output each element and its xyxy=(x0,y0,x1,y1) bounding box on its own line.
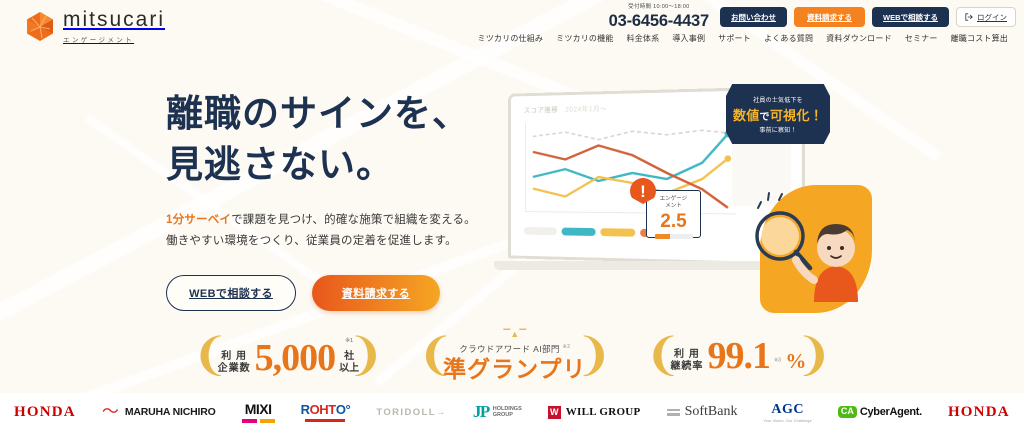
client-logo-softbank-text: SoftBank xyxy=(685,404,738,420)
mixi-underline-icon xyxy=(242,419,275,423)
stat-retention-note: ※3 xyxy=(774,357,781,363)
stat-award-note: ※2 xyxy=(563,344,571,350)
nav-item-kinou[interactable]: ミツカリの機能 xyxy=(556,33,613,44)
telephone-block: 受付時間 10:00〜18:00 03-6456-4437 xyxy=(609,5,709,30)
laurel-wreath-icon: ❨ xyxy=(575,332,613,377)
client-logo-will-group-text: WILL GROUP xyxy=(566,406,641,418)
stat-award-content: ▔▲▔ クラウドアワード AI部門 ※2 準グランプリ xyxy=(443,330,586,383)
nav-item-faq[interactable]: よくある質問 xyxy=(764,33,813,44)
hexagon-cube-icon xyxy=(26,11,54,42)
badge-main-end: 可視化！ xyxy=(770,108,823,123)
business-hours: 受付時間 10:00〜18:00 xyxy=(609,5,709,11)
client-logo-toridoll: TORIDOLL→ xyxy=(376,407,446,418)
person-illustration-icon xyxy=(744,184,864,307)
engagement-score-bar xyxy=(655,234,693,239)
badge-main-mid: で xyxy=(760,112,770,123)
landing-page: mitsucari エンゲージメント 受付時間 10:00〜18:00 03-6… xyxy=(0,0,1024,431)
main-navigation: ミツカリの仕組み ミツカリの機能 料金体系 導入事例 サポート よくある質問 資… xyxy=(478,33,1008,44)
stat-companies-content: 利 用 企業数 5,000 ※1 社 以上 xyxy=(218,338,360,376)
header-contact-area: 受付時間 10:00〜18:00 03-6456-4437 お問い合わせ 資料請… xyxy=(609,5,1016,30)
stat-retention-content: 利 用 継続率 99.1 ※3 % xyxy=(670,340,806,373)
stat-retention-value: 99.1 xyxy=(707,340,770,373)
phone-number: 03-6456-4437 xyxy=(609,13,709,30)
stat-award: ❨ ❨ ▔▲▔ クラウドアワード AI部門 ※2 準グランプリ xyxy=(417,328,612,386)
client-logo-jp-holdings: JP HOLDINGS GROUP xyxy=(473,402,522,422)
nav-item-seminar[interactable]: セミナー xyxy=(905,33,938,44)
client-logo-jp-sub2: GROUP xyxy=(493,412,513,418)
client-logo-will-group: W WILL GROUP xyxy=(548,406,641,419)
laurel-wreath-icon: ❨ xyxy=(347,332,385,377)
client-logo-honda: HONDA xyxy=(14,404,76,421)
logo-tagline: エンゲージメント xyxy=(63,34,165,44)
legend-pill-retention xyxy=(600,228,635,237)
stat-companies-value: 5,000 xyxy=(255,342,336,375)
hero-lead-line1: 1分サーベイで課題を見つけ、的確な施策で組織を変える。 xyxy=(166,210,476,231)
client-logo-cyberagent: CA CyberAgent. xyxy=(838,406,922,418)
hero-copy: 離職のサインを、 見逃さない。 1分サーベイで課題を見つけ、的確な施策で組織を変… xyxy=(166,88,476,311)
hero-web-consult-button[interactable]: WEBで相談する xyxy=(166,275,296,311)
client-logo-maruha-nichiro: 〜 MARUHA NICHIRO xyxy=(102,406,216,418)
dashboard-title: スコア推移 2024年1月〜 xyxy=(524,104,608,115)
badge-bottom-text: 事前に察知！ xyxy=(759,125,796,134)
hero-lead-line2: 働きやすい環境をつくり、従業員の定着を促進します。 xyxy=(166,231,476,252)
nav-item-cost-calc[interactable]: 離職コスト算出 xyxy=(951,33,1008,44)
hero-request-document-button[interactable]: 資料請求する xyxy=(312,275,440,311)
client-logo-jp-text: JP xyxy=(473,402,489,422)
laurel-wreath-icon: ❨ xyxy=(192,332,230,377)
contact-button[interactable]: お問い合わせ xyxy=(720,7,787,27)
nav-item-cases[interactable]: 導入事例 xyxy=(672,33,705,44)
crown-icon: ▔▲▔ xyxy=(443,330,586,339)
engagement-score-value: 2.5 xyxy=(647,212,700,231)
nav-item-download[interactable]: 資料ダウンロード xyxy=(826,33,892,44)
stats-row: ❨ ❨ 利 用 企業数 5,000 ※1 社 以上 ❨ ❨ ▔▲▔ xyxy=(0,326,1024,388)
client-logo-jp-sub1: HOLDINGS xyxy=(493,406,522,412)
login-arrow-icon xyxy=(965,13,973,21)
hero-lead-highlight: 1分サーベイ xyxy=(166,214,231,226)
client-logo-honda: HONDA xyxy=(948,404,1010,421)
hero-lead-rest: で課題を見つけ、的確な施策で組織を変える。 xyxy=(231,214,476,226)
dashboard-title-text: スコア推移 xyxy=(524,107,559,114)
login-label: ログイン xyxy=(977,12,1007,23)
line-chart xyxy=(524,117,739,216)
client-logo-agc: AGC Your Vision, Our Challenge xyxy=(763,402,811,423)
hero-headline-line1: 離職のサインを、 xyxy=(166,88,476,139)
cyberagent-mark-icon: CA xyxy=(838,406,857,418)
stat-retention: ❨ ❨ 利 用 継続率 99.1 ※3 % xyxy=(644,328,832,386)
engagement-label-line2: メント xyxy=(647,203,700,210)
client-logo-strip: HONDA 〜 MARUHA NICHIRO MIXI ROHTO° TORID… xyxy=(0,393,1024,431)
client-logo-rohto-text: ROHTO° xyxy=(301,402,351,417)
logo-name: mitsucari xyxy=(63,9,165,30)
laurel-wreath-icon: ❨ xyxy=(417,332,455,377)
nav-item-support[interactable]: サポート xyxy=(718,33,751,44)
badge-main-strong: 数値 xyxy=(733,108,760,123)
badge-main-text: 数値で可視化！ xyxy=(733,105,823,124)
request-document-button[interactable]: 資料請求する xyxy=(794,7,865,27)
site-header: mitsucari エンゲージメント 受付時間 10:00〜18:00 03-6… xyxy=(0,0,1024,56)
client-logo-cyberagent-text: CyberAgent. xyxy=(860,406,922,418)
stat-companies: ❨ ❨ 利 用 企業数 5,000 ※1 社 以上 xyxy=(192,328,386,386)
softbank-bars-icon xyxy=(667,409,680,416)
laurel-wreath-icon: ❨ xyxy=(644,332,682,377)
client-logo-softbank: SoftBank xyxy=(667,404,738,420)
dashboard-subtitle-text: 2024年1月〜 xyxy=(565,106,607,114)
rohto-underline-icon xyxy=(305,419,345,422)
stat-award-title: 準グランプリ xyxy=(443,357,586,383)
client-logo-agc-tagline: Your Vision, Our Challenge xyxy=(763,419,811,423)
nav-item-pricing[interactable]: 料金体系 xyxy=(627,33,660,44)
web-consult-button[interactable]: WEBで相談する xyxy=(872,7,949,27)
hero-lead: 1分サーベイで課題を見つけ、的確な施策で組織を変える。 働きやすい環境をつくり、… xyxy=(166,210,476,253)
client-logo-rohto: ROHTO° xyxy=(301,402,351,422)
hero-illustration: スコア推移 2024年1月〜 xyxy=(478,72,878,317)
site-logo[interactable]: mitsucari エンゲージメント xyxy=(26,9,165,44)
hero-cta-row: WEBで相談する 資料請求する xyxy=(166,275,476,311)
stat-award-category-text: クラウドアワード AI部門 xyxy=(459,344,560,354)
laurel-wreath-icon: ❨ xyxy=(795,332,833,377)
client-logo-jp-sub: HOLDINGS GROUP xyxy=(493,406,522,419)
stat-award-category: クラウドアワード AI部門 ※2 xyxy=(459,344,570,354)
hero-headline-line2: 見逃さない。 xyxy=(166,139,476,190)
client-logo-agc-text: AGC xyxy=(771,402,804,418)
legend-pill-satisfaction xyxy=(562,228,596,236)
client-logo-mixi: MIXI xyxy=(242,401,275,423)
client-logo-mixi-text: MIXI xyxy=(245,401,272,417)
login-button[interactable]: ログイン xyxy=(956,7,1016,27)
nav-item-kumi[interactable]: ミツカリの仕組み xyxy=(478,33,544,44)
status-badge: 社員の士気低下を 数値で可視化！ 事前に察知！ xyxy=(726,84,830,144)
client-logo-maruha-nichiro-text: MARUHA NICHIRO xyxy=(125,406,216,418)
engagement-label-line1: エンゲージ xyxy=(647,196,700,203)
hero-headline: 離職のサインを、 見逃さない。 xyxy=(166,88,476,190)
legend-pill-neutral xyxy=(524,227,557,235)
badge-top-text: 社員の士気低下を xyxy=(753,95,803,104)
will-group-mark-icon: W xyxy=(548,406,561,419)
